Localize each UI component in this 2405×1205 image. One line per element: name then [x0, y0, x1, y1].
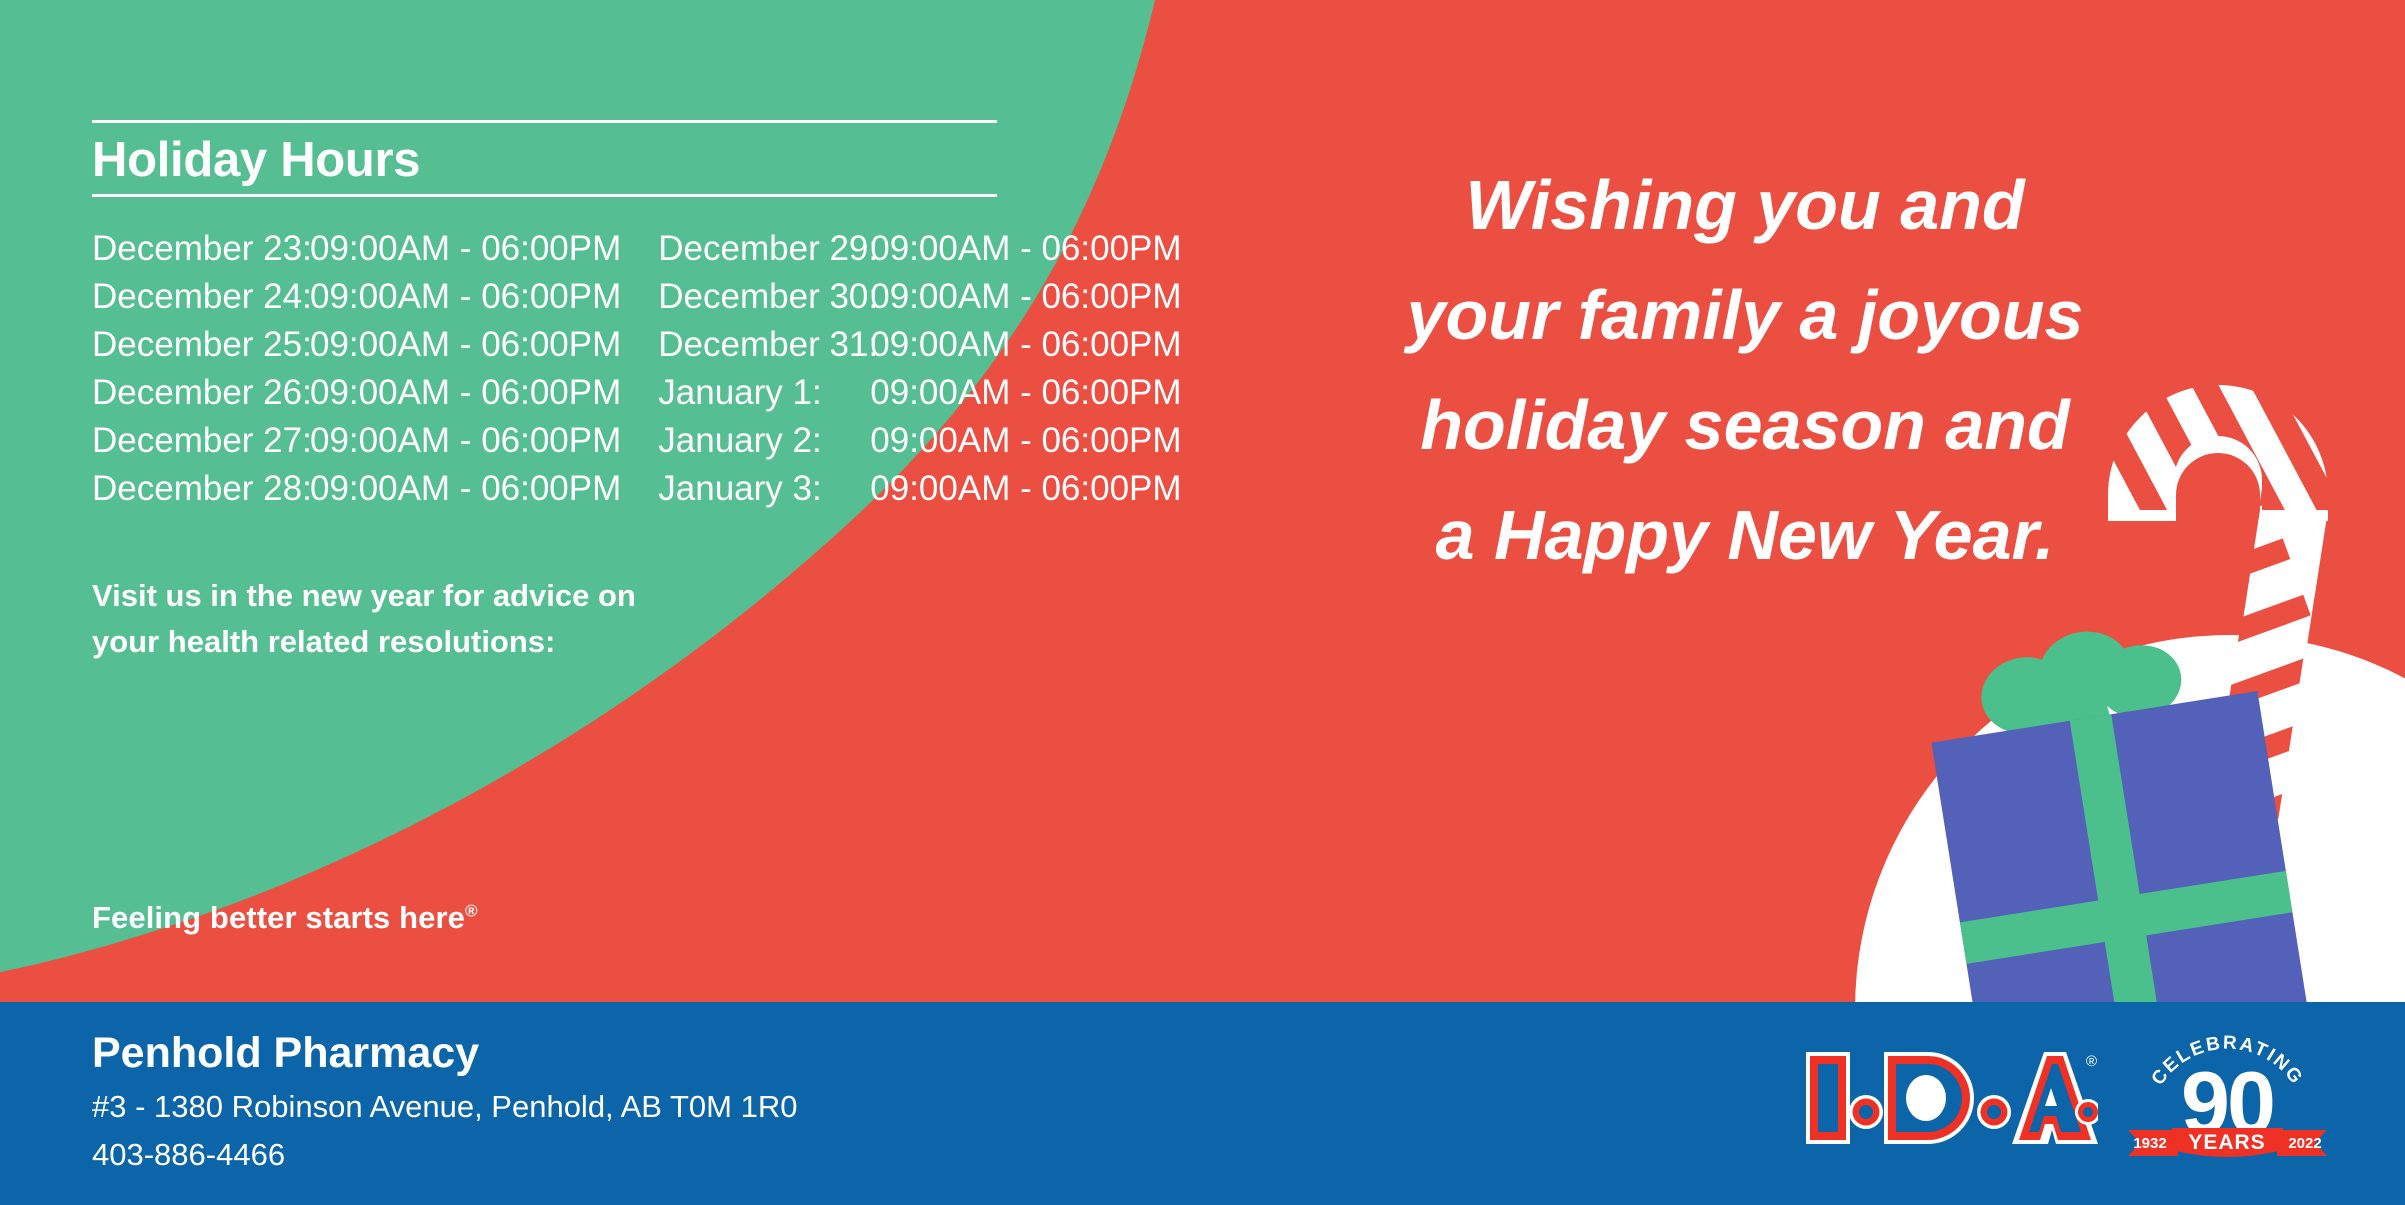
ida-logo-letters	[1806, 1052, 2098, 1144]
hours-date: December 31:	[658, 321, 870, 368]
ida-registered-icon: ®	[2086, 1053, 2097, 1070]
hours-date: December 28:	[92, 465, 310, 512]
anniversary-badge: CELEBRATING 90 1932 2022 YEARS	[2120, 1030, 2335, 1165]
hours-row: January 2: 09:00AM - 06:00PM	[658, 417, 1181, 464]
hours-row: December 29: 09:00AM - 06:00PM	[658, 225, 1181, 272]
hours-column-right: December 29: 09:00AM - 06:00PM December …	[658, 225, 1181, 512]
hours-row: December 27: 09:00AM - 06:00PM	[92, 417, 621, 464]
visit-note-line-2: your health related resolutions:	[92, 619, 792, 665]
hours-time: 09:00AM - 06:00PM	[310, 225, 621, 272]
hours-column-left: December 23: 09:00AM - 06:00PM December …	[92, 225, 621, 512]
footer-logos: ® CELEBRATING 90 1932 2022	[1798, 1030, 2335, 1165]
hours-time: 09:00AM - 06:00PM	[310, 321, 621, 368]
registered-trademark-icon: ®	[465, 902, 478, 921]
hours-date: December 30:	[658, 273, 870, 320]
hours-row: December 30: 09:00AM - 06:00PM	[658, 273, 1181, 320]
hours-date: December 24:	[92, 273, 310, 320]
hours-date: December 27:	[92, 417, 310, 464]
store-name: Penhold Pharmacy	[92, 1024, 797, 1082]
hours-date: December 26:	[92, 369, 310, 416]
hours-time: 09:00AM - 06:00PM	[310, 465, 621, 512]
visit-note: Visit us in the new year for advice on y…	[92, 573, 792, 665]
hours-time: 09:00AM - 06:00PM	[870, 225, 1181, 272]
holiday-greeting: Wishing you and your family a joyous hol…	[1355, 150, 2135, 590]
hours-date: January 2:	[658, 417, 870, 464]
hours-date: January 1:	[658, 369, 870, 416]
hours-row: December 31: 09:00AM - 06:00PM	[658, 321, 1181, 368]
hours-date: December 23:	[92, 225, 310, 272]
hours-row: December 26: 09:00AM - 06:00PM	[92, 369, 621, 416]
hours-date: December 25:	[92, 321, 310, 368]
holiday-banner: Holiday Hours December 23: 09:00AM - 06:…	[0, 0, 2405, 1205]
store-phone[interactable]: 403-886-4466	[92, 1132, 797, 1178]
hours-time: 09:00AM - 06:00PM	[310, 417, 621, 464]
hours-time: 09:00AM - 06:00PM	[870, 273, 1181, 320]
store-address: #3 - 1380 Robinson Avenue, Penhold, AB T…	[92, 1082, 797, 1132]
hours-row: January 1: 09:00AM - 06:00PM	[658, 369, 1181, 416]
hours-date: December 29:	[658, 225, 870, 272]
ida-logo: ®	[1798, 1038, 2098, 1158]
hours-rule-bottom	[92, 194, 997, 197]
hours-time: 09:00AM - 06:00PM	[870, 369, 1181, 416]
greeting-line-4: a Happy New Year.	[1355, 480, 2135, 590]
brand-tagline: Feeling better starts here®	[92, 900, 478, 936]
hours-time: 09:00AM - 06:00PM	[310, 369, 621, 416]
hours-grid: December 23: 09:00AM - 06:00PM December …	[92, 225, 1122, 512]
hours-time: 09:00AM - 06:00PM	[310, 273, 621, 320]
store-info: Penhold Pharmacy #3 - 1380 Robinson Aven…	[92, 1024, 797, 1178]
hours-title: Holiday Hours	[92, 123, 1122, 194]
badge-years-text: YEARS	[2188, 1131, 2265, 1154]
hours-row: January 3: 09:00AM - 06:00PM	[658, 465, 1181, 512]
hours-date: January 3:	[658, 465, 870, 512]
hours-row: December 24: 09:00AM - 06:00PM	[92, 273, 621, 320]
tagline-text: Feeling better starts here	[92, 900, 465, 935]
hours-row: December 28: 09:00AM - 06:00PM	[92, 465, 621, 512]
hours-time: 09:00AM - 06:00PM	[870, 417, 1181, 464]
hours-time: 09:00AM - 06:00PM	[870, 321, 1181, 368]
holiday-hours-panel: Holiday Hours December 23: 09:00AM - 06:…	[92, 120, 1122, 512]
badge-end-year: 2022	[2288, 1135, 2321, 1152]
hours-row: December 25: 09:00AM - 06:00PM	[92, 321, 621, 368]
greeting-line-1: Wishing you and	[1355, 150, 2135, 260]
greeting-line-3: holiday season and	[1355, 370, 2135, 480]
badge-start-year: 1932	[2133, 1135, 2166, 1152]
hours-time: 09:00AM - 06:00PM	[870, 465, 1181, 512]
footer-bar: Penhold Pharmacy #3 - 1380 Robinson Aven…	[0, 1002, 2405, 1205]
visit-note-line-1: Visit us in the new year for advice on	[92, 573, 792, 619]
greeting-line-2: your family a joyous	[1355, 260, 2135, 370]
hours-row: December 23: 09:00AM - 06:00PM	[92, 225, 621, 272]
